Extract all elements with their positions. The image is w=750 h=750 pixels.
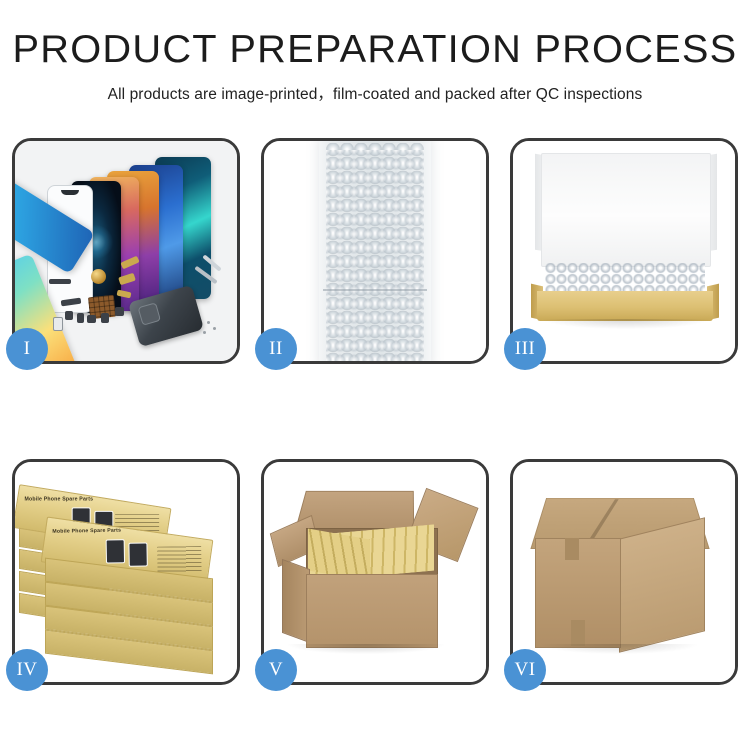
step-image-1: [15, 141, 237, 361]
step-badge-6: VI: [504, 649, 546, 691]
spare-part-chip-6: [101, 313, 109, 323]
step-panel-5: V: [261, 459, 489, 685]
bubble-wrap-bubbles-layer-2: [326, 150, 424, 361]
step-image-5: [264, 462, 486, 682]
box-shadow: [543, 319, 709, 329]
box-screen-image-3: [106, 539, 125, 563]
sealed-carton-right-face: [619, 517, 705, 652]
process-steps-grid: I II III: [12, 138, 738, 685]
page-header: PRODUCT PREPARATION PROCESS All products…: [0, 0, 750, 104]
step-badge-1: I: [6, 328, 48, 370]
step-image-3: [513, 141, 735, 361]
page-subtitle: All products are image-printed，film-coat…: [0, 82, 750, 104]
step-panel-1: I: [12, 138, 240, 364]
box-front-kraft: [537, 291, 713, 321]
carton-front-face: [306, 574, 438, 648]
screw-3: [203, 331, 206, 334]
step-panel-2: II: [261, 138, 489, 364]
bubble-wrap-seam: [323, 289, 427, 291]
sealed-carton-tape-lower: [571, 620, 585, 646]
box-label-text-top: Mobile Phone Spare Parts: [24, 497, 93, 503]
copper-coil-part: [91, 269, 106, 284]
spare-part-chip-7: [115, 307, 124, 316]
sealed-carton-shadow: [541, 644, 697, 654]
step-image-6: [513, 462, 735, 682]
carton-shadow: [288, 644, 444, 654]
step-badge-2: II: [255, 328, 297, 370]
step-panel-4: Mobile Phone Spare Parts Mobile Phone Sp…: [12, 459, 240, 685]
step-image-4: Mobile Phone Spare Parts Mobile Phone Sp…: [15, 462, 237, 682]
spare-part-chip-4: [77, 313, 84, 323]
spare-part-chip-1: [49, 279, 71, 284]
spare-part-chip-3: [65, 311, 73, 320]
step-badge-4: IV: [6, 649, 48, 691]
box-lid-white: [541, 153, 711, 267]
box-screen-image-4: [128, 542, 147, 566]
step-panel-3: III: [510, 138, 738, 364]
step-badge-5: V: [255, 649, 297, 691]
product-preparation-page: PRODUCT PREPARATION PROCESS All products…: [0, 0, 750, 750]
sealed-carton-tape-upper: [565, 538, 579, 560]
step-image-2: [264, 141, 486, 361]
page-title: PRODUCT PREPARATION PROCESS: [0, 30, 750, 71]
step-panel-6: VI: [510, 459, 738, 685]
screw-1: [207, 321, 210, 324]
spare-part-connector: [53, 317, 63, 331]
kraft-box-stack: Mobile Phone Spare Parts Mobile Phone Sp…: [15, 462, 237, 682]
box-spec-lines-second: [157, 546, 201, 573]
step-badge-3: III: [504, 328, 546, 370]
box-label-text-second: Mobile Phone Spare Parts: [52, 528, 121, 535]
spare-part-chip-5: [87, 315, 96, 323]
screw-2: [213, 327, 216, 330]
